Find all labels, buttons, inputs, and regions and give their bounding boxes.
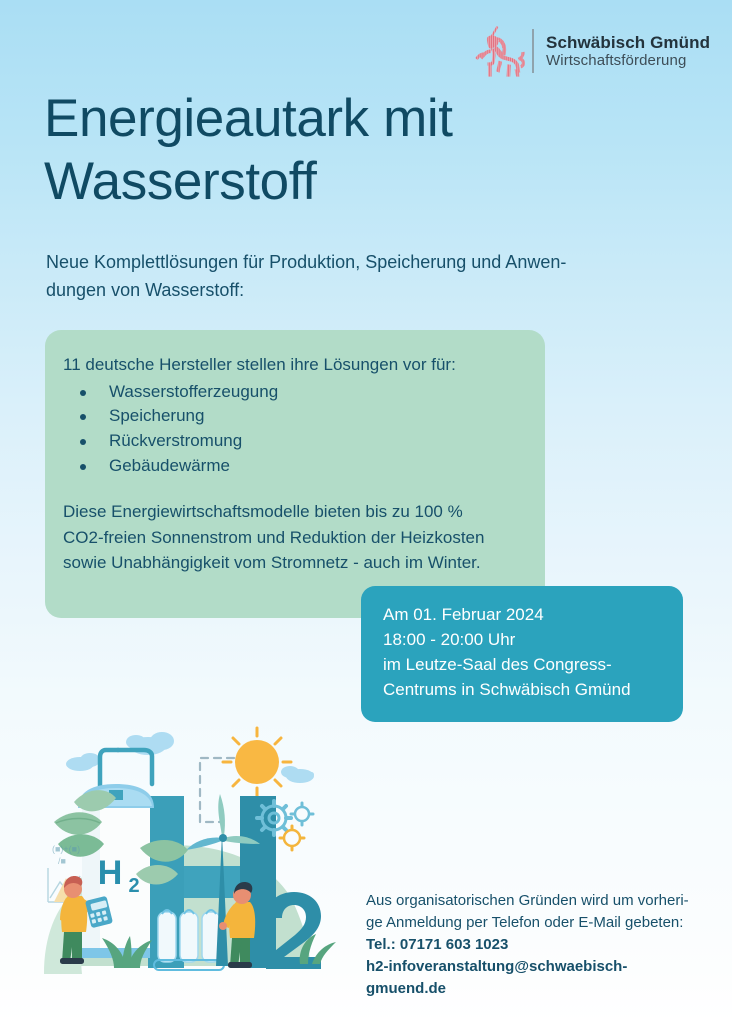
contact-email[interactable]: h2-infoveranstaltung@schwaebisch-gmuend.… <box>366 956 702 1000</box>
contact-phone[interactable]: Tel.: 07171 603 1023 <box>366 934 702 956</box>
title-line-2: Wasserstoff <box>44 151 604 214</box>
sun-icon <box>223 728 291 796</box>
highlights-paragraph: Diese Energiewirtschaftsmodelle bieten b… <box>63 499 517 574</box>
highlights-paragraph-line-3: sowie Unabhängigkeit vom Stromnetz - auc… <box>63 550 517 575</box>
cloud-icon <box>66 753 100 771</box>
contact-note-line-1: Aus organisatorischen Gründen wird um vo… <box>366 890 702 912</box>
tank-h-label: H <box>98 854 123 892</box>
registration-contact: Aus organisatorischen Gründen wird um vo… <box>366 890 702 1000</box>
unicorn-heraldic-icon <box>474 24 526 78</box>
intro-paragraph: Neue Komplettlösungen für Produktion, Sp… <box>46 249 666 305</box>
contact-note-line-2: ge Anmeldung per Telefon oder E-Mail geb… <box>366 912 702 934</box>
logo-department: Wirtschaftsförderung <box>546 52 710 69</box>
intro-line-2: dungen von Wasserstoff: <box>46 277 666 305</box>
cloud-icon <box>281 766 314 783</box>
poster-title: Energieautark mit Wasserstoff <box>44 88 604 213</box>
highlights-paragraph-line-2: CO2-freien Sonnenstrom und Reduktion der… <box>63 525 517 550</box>
logo-city-name: Schwäbisch Gmünd <box>546 33 710 53</box>
intro-line-1: Neue Komplettlösungen für Produktion, Sp… <box>46 249 666 277</box>
event-details-box: Am 01. Februar 2024 18:00 - 20:00 Uhr im… <box>361 586 683 722</box>
list-item: Rückverstromung <box>63 429 517 454</box>
highlights-lead: 11 deutsche Hersteller stellen ihre Lösu… <box>63 352 517 378</box>
list-item: Speicherung <box>63 404 517 429</box>
tank-2-label: 2 <box>128 875 139 897</box>
event-venue-line-1: im Leutze-Saal des Congress- <box>383 652 663 677</box>
list-item: Gebäudewärme <box>63 454 517 479</box>
highlights-paragraph-line-1: Diese Energiewirtschaftsmodelle bieten b… <box>63 499 517 524</box>
highlights-box: 11 deutsche Hersteller stellen ihre Lösu… <box>45 330 545 618</box>
event-venue-line-2: Centrums in Schwäbisch Gmünd <box>383 677 663 702</box>
svg-text:/■: /■ <box>58 856 66 866</box>
highlights-list: Wasserstofferzeugung Speicherung Rückver… <box>63 380 517 480</box>
list-item: Wasserstofferzeugung <box>63 380 517 405</box>
city-logo: Schwäbisch Gmünd Wirtschaftsförderung <box>474 24 710 78</box>
gear-icon <box>291 803 313 825</box>
dashed-connector-line <box>200 758 234 822</box>
gas-cylinders-icon <box>154 910 224 970</box>
title-line-1: Energieautark mit <box>44 88 604 151</box>
hydrogen-energy-illustration: H 2 <box>44 726 364 996</box>
event-time: 18:00 - 20:00 Uhr <box>383 627 663 652</box>
event-date: Am 01. Februar 2024 <box>383 602 663 627</box>
poster-canvas: Schwäbisch Gmünd Wirtschaftsförderung En… <box>0 0 732 1024</box>
logo-divider <box>532 29 534 73</box>
svg-text:(■)+(■): (■)+(■) <box>52 844 80 854</box>
